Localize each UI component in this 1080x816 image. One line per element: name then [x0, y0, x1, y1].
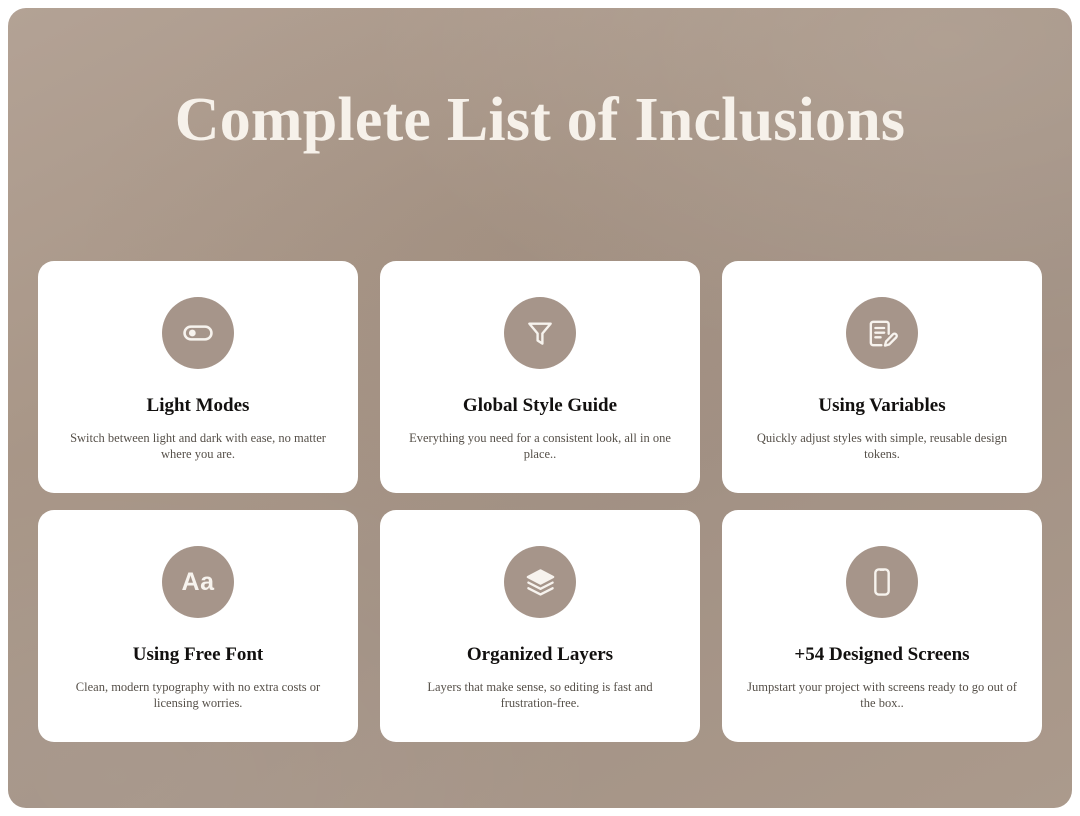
card-title: Organized Layers	[467, 644, 613, 666]
typography-aa-icon: Aa	[162, 546, 234, 618]
card-description: Layers that make sense, so editing is fa…	[402, 679, 678, 711]
hero-section: Complete List of Inclusions Light Modes …	[8, 8, 1072, 808]
card-title: +54 Designed Screens	[794, 644, 969, 666]
card-description: Quickly adjust styles with simple, reusa…	[744, 430, 1020, 462]
card-title: Global Style Guide	[463, 395, 617, 417]
document-edit-icon	[846, 297, 918, 369]
card-description: Clean, modern typography with no extra c…	[60, 679, 336, 711]
card-title: Light Modes	[147, 395, 250, 417]
card-title: Using Free Font	[133, 644, 264, 666]
feature-card[interactable]: Organized Layers Layers that make sense,…	[380, 510, 700, 742]
card-title: Using Variables	[818, 395, 945, 417]
feature-card[interactable]: Global Style Guide Everything you need f…	[380, 261, 700, 493]
page-title: Complete List of Inclusions	[8, 8, 1072, 160]
card-description: Jumpstart your project with screens read…	[744, 679, 1020, 711]
feature-card[interactable]: +54 Designed Screens Jumpstart your proj…	[722, 510, 1042, 742]
feature-card[interactable]: Aa Using Free Font Clean, modern typogra…	[38, 510, 358, 742]
feature-card[interactable]: Light Modes Switch between light and dar…	[38, 261, 358, 493]
feature-card[interactable]: Using Variables Quickly adjust styles wi…	[722, 261, 1042, 493]
typography-aa-glyph: Aa	[182, 570, 215, 595]
card-description: Everything you need for a consistent loo…	[402, 430, 678, 462]
toggle-switch-icon	[162, 297, 234, 369]
layers-stack-icon	[504, 546, 576, 618]
smartphone-icon	[846, 546, 918, 618]
page-root: Complete List of Inclusions Light Modes …	[0, 0, 1080, 816]
feature-card-grid: Light Modes Switch between light and dar…	[38, 261, 1042, 742]
funnel-filter-icon	[504, 297, 576, 369]
card-description: Switch between light and dark with ease,…	[60, 430, 336, 462]
